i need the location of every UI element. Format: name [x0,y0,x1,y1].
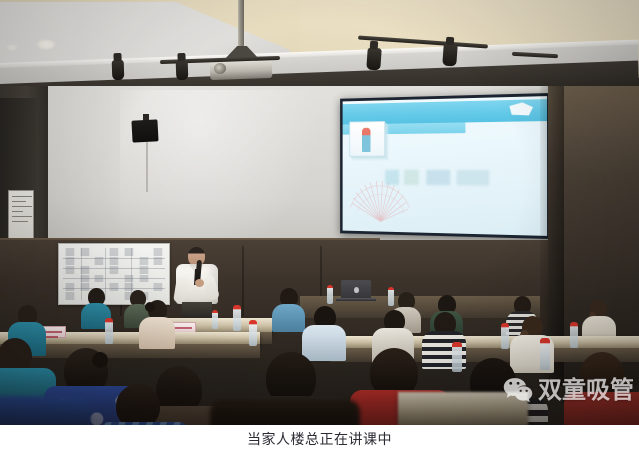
recessed-downlight-icon [6,44,18,51]
notice-text-lines [12,196,32,226]
spotlight-icon [176,60,189,80]
water-bottle-icon [388,287,394,306]
whiteboard [58,243,170,305]
slide-fan-graphic [344,173,415,226]
water-bottle-icon [452,342,462,372]
whiteboard-content-grid [63,248,165,300]
presenter-hand [195,279,204,287]
water-bottle-icon [249,320,257,346]
water-bottle-icon [105,318,113,344]
water-bottle-icon [540,338,550,370]
caption-text: 当家人楼总正在讲课中 [247,429,392,449]
laptop-base [336,298,376,301]
wood-panel-seam [242,246,244,316]
wall-speaker-icon [131,119,158,142]
spotlight-icon [366,48,382,71]
macbook-laptop [341,280,371,299]
slide-thumbnail-figure [362,128,371,152]
water-bottle-icon [327,285,333,304]
projector-lens [214,63,226,74]
water-bottle-icon [501,323,509,349]
water-bottle-icon [233,305,241,331]
water-bottle-icon [570,322,578,348]
projection-screen-surface [343,96,547,236]
spotlight-icon [112,60,125,80]
page-root: 双童吸管 当家人楼总正在讲课中 [0,0,639,453]
presenter [175,247,219,319]
wall-highlight [120,90,320,260]
foreground-desk [398,392,528,425]
projector-pole [238,0,244,50]
spotlight-icon [442,44,458,67]
speaker-cable [146,142,148,192]
projection-screen [340,93,550,239]
recessed-downlight-icon [36,39,56,50]
photo-caption: 当家人楼总正在讲课中 [0,425,639,453]
water-bottle-icon [212,310,218,329]
slide-thumbnail [349,121,385,157]
seminar-photo: 双童吸管 [0,0,639,425]
apple-logo-icon [354,287,359,293]
